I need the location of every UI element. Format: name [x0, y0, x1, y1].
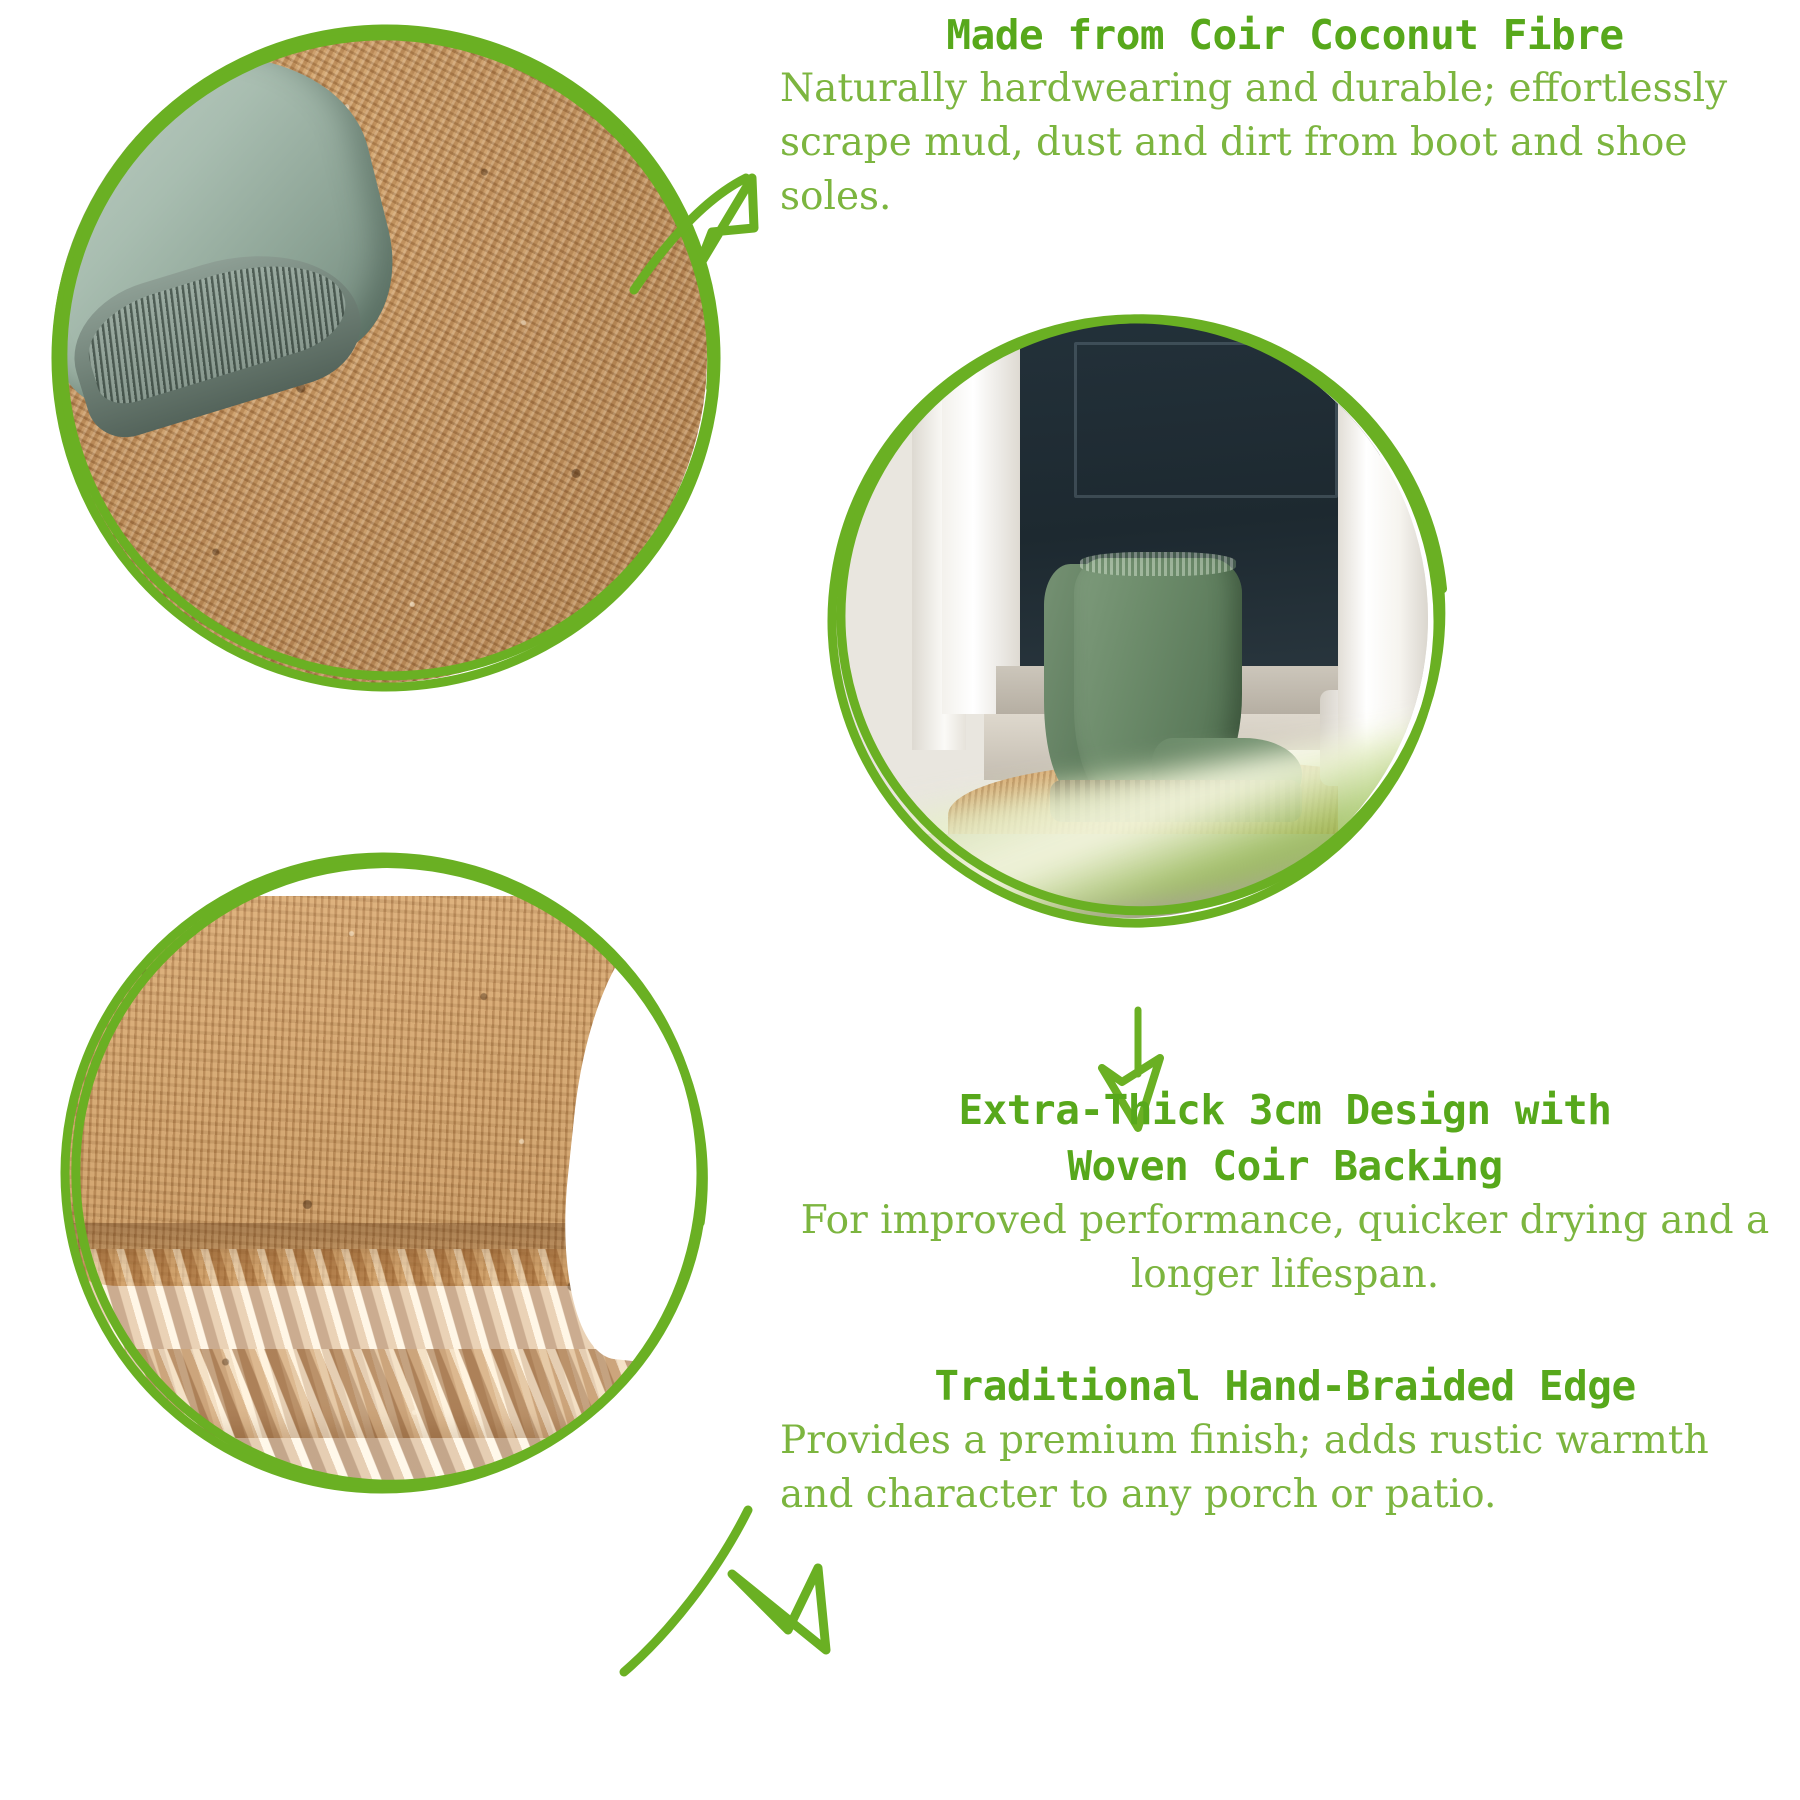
feature-2-text-block: Extra-Thick 3cm Design with Woven Coir B… [780, 1082, 1790, 1302]
feature-1-text-block: Made from Coir Coconut Fibre Naturally h… [780, 8, 1790, 224]
feature-1-body: Naturally hardwearing and durable; effor… [780, 62, 1790, 224]
panel-braided-edge [68, 858, 698, 1488]
panel-doorstep [828, 318, 1428, 918]
feature-1-heading: Made from Coir Coconut Fibre [780, 8, 1790, 62]
feature-3-body: Provides a premium finish; adds rustic w… [780, 1414, 1790, 1522]
feature-2-body: For improved performance, quicker drying… [780, 1194, 1790, 1302]
feature-2-heading-line-1: Extra-Thick 3cm Design with [780, 1082, 1790, 1138]
feature-3-heading: Traditional Hand-Braided Edge [780, 1358, 1790, 1414]
feature-2-heading-line-2: Woven Coir Backing [780, 1138, 1790, 1194]
doorstep-photo [828, 318, 1428, 918]
coir-texture-photo [52, 28, 707, 683]
panel-coir-texture [52, 28, 707, 683]
product-infographic: Made from Coir Coconut Fibre Naturally h… [0, 0, 1800, 1800]
feature-3-text-block: Traditional Hand-Braided Edge Provides a… [780, 1358, 1790, 1522]
braided-edge-photo [68, 858, 698, 1488]
